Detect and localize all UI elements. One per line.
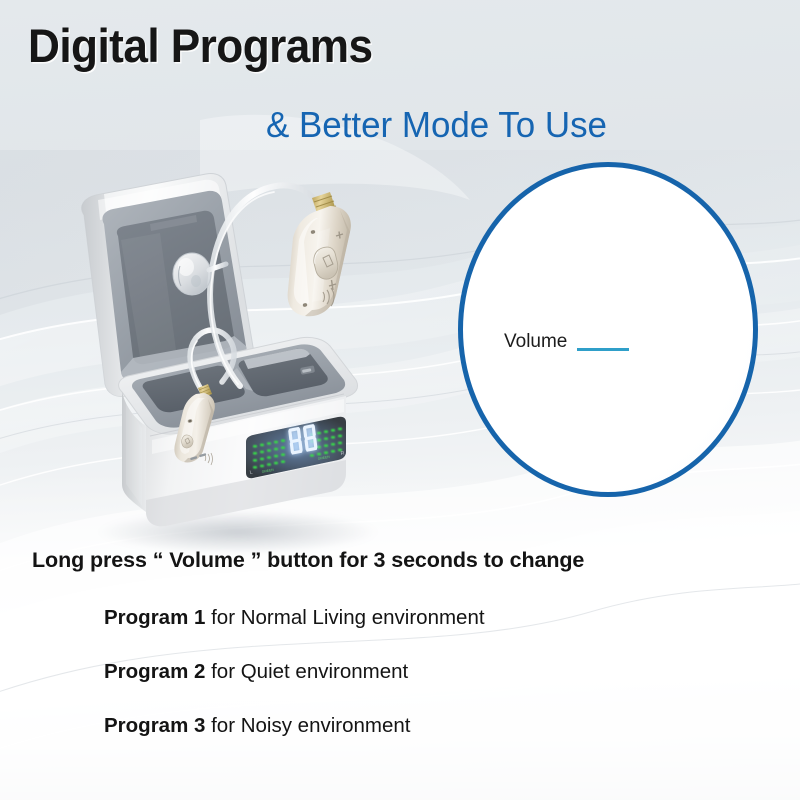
program-line-2: Program 2 for Quiet environment	[104, 660, 408, 684]
volume-leader-line	[577, 348, 629, 351]
program-3-name: Program 3	[104, 714, 205, 737]
page-title: Digital Programs	[28, 18, 373, 73]
program-1-name: Program 1	[104, 606, 205, 629]
program-3-description: for Noisy environment	[205, 714, 410, 737]
volume-callout-label: Volume	[504, 331, 567, 353]
infographic-canvas: Digital Programs & Better Mode To Use	[0, 0, 800, 800]
program-1-description: for Normal Living environment	[205, 606, 484, 629]
program-line-3: Program 3 for Noisy environment	[104, 714, 411, 738]
volume-rocker-button	[314, 247, 338, 279]
instruction-heading: Long press “ Volume ” button for 3 secon…	[32, 548, 584, 573]
callout-ring-border	[458, 162, 758, 497]
program-line-1: Program 1 for Normal Living environment	[104, 606, 485, 630]
program-2-name: Program 2	[104, 660, 205, 683]
program-2-description: for Quiet environment	[205, 660, 408, 683]
callout-circle	[458, 162, 758, 497]
